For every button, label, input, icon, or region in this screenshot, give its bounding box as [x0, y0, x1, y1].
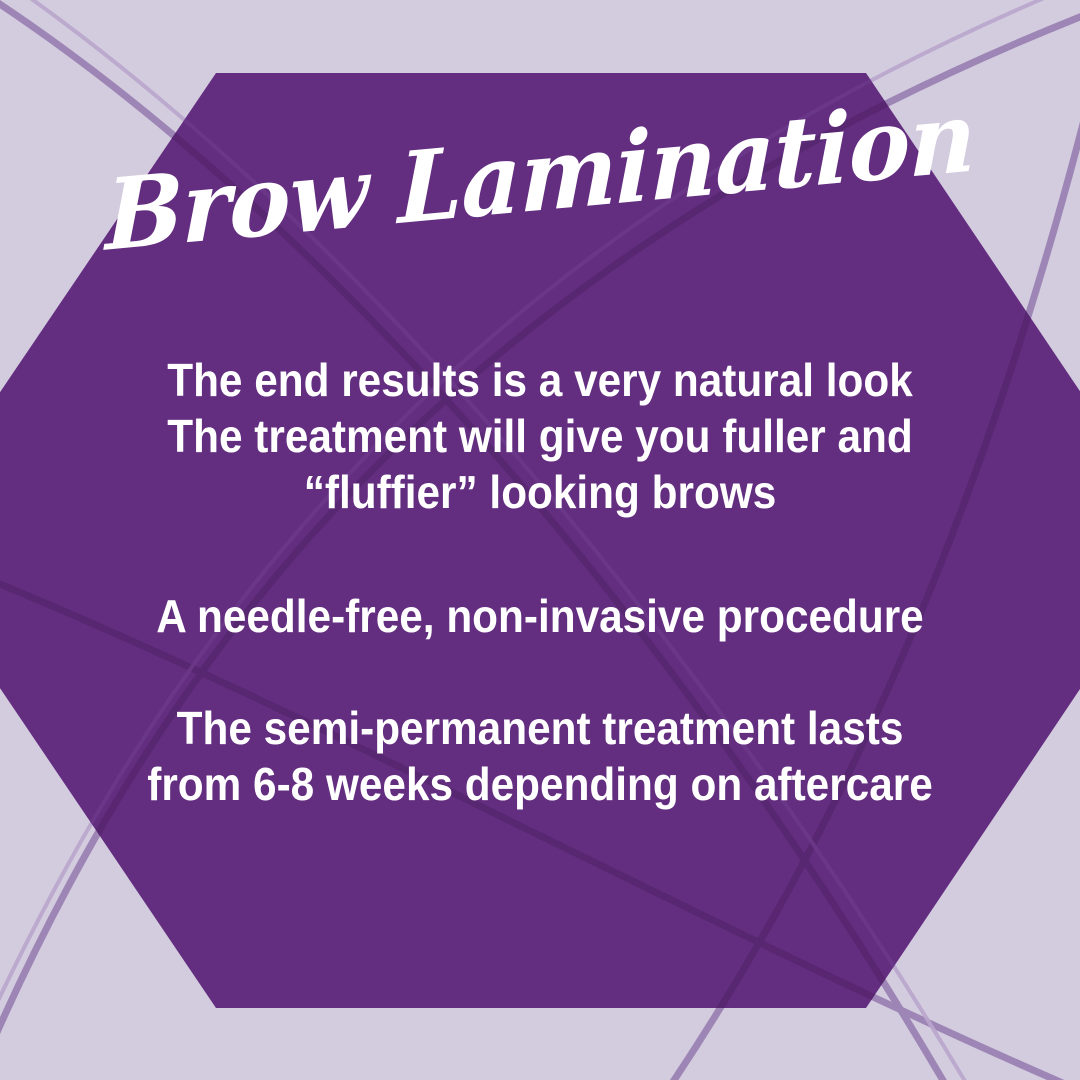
paragraph-line: from 6-8 weeks depending on aftercare: [98, 756, 981, 812]
paragraph-results: The end results is a very natural look T…: [98, 352, 981, 520]
brow-lamination-poster: Brow Lamination The end results is a ver…: [0, 0, 1080, 1080]
paragraph-line: The semi-permanent treatment lasts: [98, 700, 981, 756]
paragraph-line: “fluffier” looking brows: [98, 464, 981, 520]
poster-title-wrapper: Brow Lamination: [0, 79, 1080, 273]
paragraph-duration: The semi-permanent treatment lasts from …: [98, 700, 981, 812]
poster-content: Brow Lamination The end results is a ver…: [0, 0, 1080, 1080]
paragraph-procedure: A needle-free, non-invasive procedure: [98, 588, 981, 644]
paragraph-line: The treatment will give you fuller and: [98, 408, 981, 464]
paragraph-line: The end results is a very natural look: [98, 352, 981, 408]
paragraph-line: A needle-free, non-invasive procedure: [98, 588, 981, 644]
page-title: Brow Lamination: [105, 85, 975, 267]
